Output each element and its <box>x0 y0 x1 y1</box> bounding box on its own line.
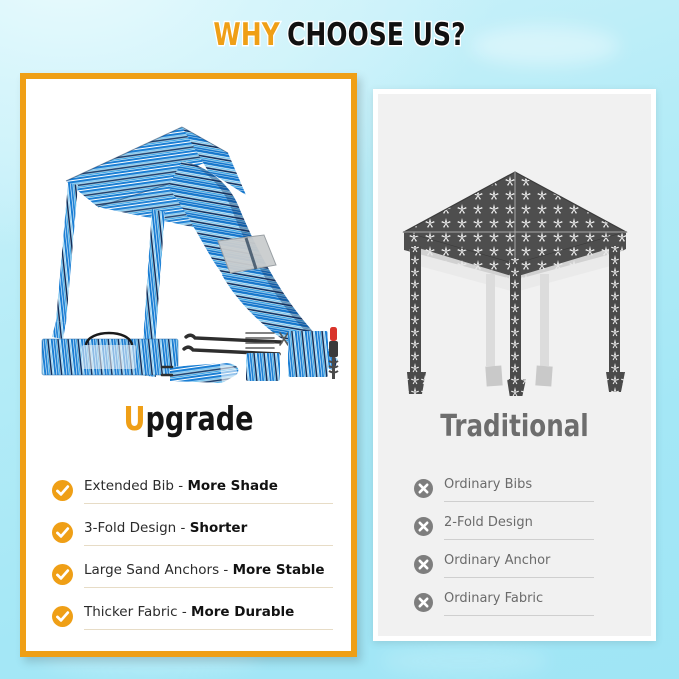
traditional-canopy-image <box>390 146 640 396</box>
title-rest: CHOOSE US? <box>287 18 466 52</box>
x-circle-icon <box>414 593 433 612</box>
feature-text: Thicker Fabric - More Durable <box>84 604 294 620</box>
list-item: Thicker Fabric - More Durable <box>52 595 329 637</box>
feature-text: Ordinary Bibs <box>444 477 532 492</box>
row-underline <box>84 629 333 630</box>
feature-text: Large Sand Anchors - More Stable <box>84 562 325 578</box>
x-circle-icon <box>414 479 433 498</box>
upgrade-heading: Upgrade <box>55 401 322 437</box>
x-circle-icon <box>414 517 433 536</box>
list-item: Ordinary Bibs <box>414 469 627 507</box>
list-item: 3-Fold Design - Shorter <box>52 511 329 553</box>
title-highlight: WHY <box>213 18 280 52</box>
list-item: Extended Bib - More Shade <box>52 469 329 511</box>
upgrade-panel: Upgrade Extended Bib - More Shade 3-Fold… <box>20 73 357 657</box>
page-title: WHYCHOOSE US? <box>68 18 611 52</box>
row-underline <box>84 545 333 546</box>
check-circle-icon <box>52 480 73 501</box>
row-underline <box>444 539 594 540</box>
check-circle-icon <box>52 564 73 585</box>
row-underline <box>84 503 333 504</box>
upgrade-heading-rest: pgrade <box>145 399 253 438</box>
feature-text: 2-Fold Design <box>444 515 533 530</box>
traditional-feature-list: Ordinary Bibs 2-Fold Design Ordina <box>378 469 651 621</box>
list-item: 2-Fold Design <box>414 507 627 545</box>
upgrade-canopy-image <box>32 109 350 399</box>
row-underline <box>444 501 594 502</box>
cloud-wisp <box>380 646 550 676</box>
feature-text: Ordinary Fabric <box>444 591 543 606</box>
x-circle-icon <box>414 555 433 574</box>
infographic-canvas: WHYCHOOSE US? <box>0 0 679 679</box>
check-circle-icon <box>52 606 73 627</box>
list-item: Large Sand Anchors - More Stable <box>52 553 329 595</box>
upgrade-feature-list: Extended Bib - More Shade 3-Fold Design … <box>26 469 351 637</box>
check-circle-icon <box>52 522 73 543</box>
feature-text: Extended Bib - More Shade <box>84 478 278 494</box>
feature-text: 3-Fold Design - Shorter <box>84 520 247 536</box>
row-underline <box>84 587 333 588</box>
row-underline <box>444 577 594 578</box>
row-underline <box>444 615 594 616</box>
list-item: Ordinary Fabric <box>414 583 627 621</box>
list-item: Ordinary Anchor <box>414 545 627 583</box>
traditional-heading: Traditional <box>403 409 627 445</box>
upgrade-heading-initial: U <box>123 399 145 438</box>
traditional-panel: Traditional Ordinary Bibs 2-Fold Design <box>373 89 656 641</box>
feature-text: Ordinary Anchor <box>444 553 550 568</box>
